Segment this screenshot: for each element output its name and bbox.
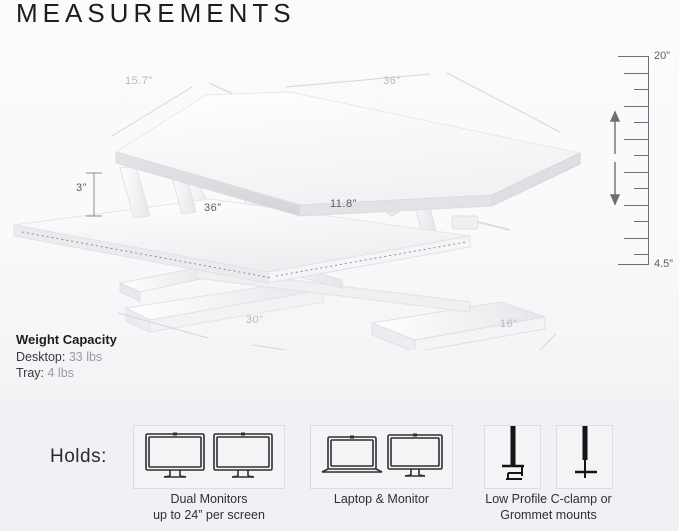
weight-row-tray: Tray: 4 lbs xyxy=(16,365,117,382)
weight-row-tray-value: 4 lbs xyxy=(48,366,74,380)
weight-capacity-block: Weight Capacity Desktop: 33 lbs Tray: 4 … xyxy=(16,332,117,382)
dimension-tray-width: 36” xyxy=(204,202,221,214)
feature-caption-clamp-mounts: Low Profile C-clamp or Grommet mounts xyxy=(463,491,634,523)
c-clamp-icon xyxy=(497,426,531,488)
weight-row-tray-key: Tray: xyxy=(16,366,44,380)
caption-line-2: Grommet mounts xyxy=(463,507,634,523)
scale-tick xyxy=(624,73,648,74)
scale-max-label: 20” xyxy=(654,50,670,62)
laptop-monitor-icon-group xyxy=(320,433,446,483)
measurements-page: MEASUREMENTS xyxy=(0,0,679,531)
grommet-mount-icon xyxy=(569,426,603,488)
dimension-base-width: 30” xyxy=(246,314,263,326)
caption-line-1: Laptop & Monitor xyxy=(300,491,463,507)
feature-caption-dual-monitors: Dual Monitors up to 24” per screen xyxy=(113,491,305,523)
weight-row-desktop: Desktop: 33 lbs xyxy=(16,349,117,366)
laptop-icon xyxy=(322,437,382,472)
dimension-tray-gap: 3” xyxy=(76,182,87,194)
feature-panel-c-clamp xyxy=(484,425,541,489)
weight-row-desktop-key: Desktop: xyxy=(16,350,65,364)
feature-panel-grommet-mount xyxy=(556,425,613,489)
range-arrows xyxy=(604,110,626,206)
gap-bracket xyxy=(86,173,102,216)
dimension-tray-depth: 11.8” xyxy=(330,198,357,210)
holds-label: Holds: xyxy=(50,446,107,468)
monitor-icon xyxy=(214,434,272,477)
scale-axis xyxy=(648,56,649,265)
clamp-detail xyxy=(452,216,510,230)
scale-min-label: 4.5” xyxy=(654,258,673,270)
monitor-icon xyxy=(146,434,204,477)
scale-tick xyxy=(634,155,648,156)
dimension-desktop-width: 36” xyxy=(383,75,400,87)
scale-cap-bottom xyxy=(618,264,648,265)
product-illustration: 15.7” 36” 3” 36” 11.8” 30” 16” xyxy=(0,40,600,350)
scale-tick xyxy=(624,139,648,140)
scale-tick xyxy=(624,238,648,239)
weight-capacity-heading: Weight Capacity xyxy=(16,332,117,349)
dual-monitors-icon-group xyxy=(144,432,276,484)
feature-panel-dual-monitors xyxy=(133,425,285,489)
scale-tick xyxy=(624,172,648,173)
caption-line-1: Dual Monitors xyxy=(113,491,305,507)
dimension-base-depth: 16” xyxy=(500,318,517,330)
monitor-icon xyxy=(388,435,442,476)
height-range-scale: 20” 4.5” xyxy=(604,48,676,273)
scale-tick xyxy=(634,188,648,189)
feature-panel-laptop-monitor xyxy=(310,425,453,489)
weight-row-desktop-value: 33 lbs xyxy=(69,350,102,364)
scale-tick xyxy=(634,254,648,255)
scale-tick xyxy=(624,205,648,206)
keyboard-tray xyxy=(14,199,470,283)
caption-line-2: up to 24” per screen xyxy=(113,507,305,523)
page-title: MEASUREMENTS xyxy=(16,0,296,29)
caption-line-1: Low Profile C-clamp or xyxy=(463,491,634,507)
scale-tick xyxy=(634,122,648,123)
scale-cap-top xyxy=(618,56,648,57)
feature-caption-laptop-monitor: Laptop & Monitor xyxy=(300,491,463,507)
dimension-desktop-depth: 15.7” xyxy=(125,75,153,87)
scale-tick xyxy=(634,221,648,222)
scale-tick xyxy=(624,106,648,107)
scale-tick xyxy=(634,89,648,90)
